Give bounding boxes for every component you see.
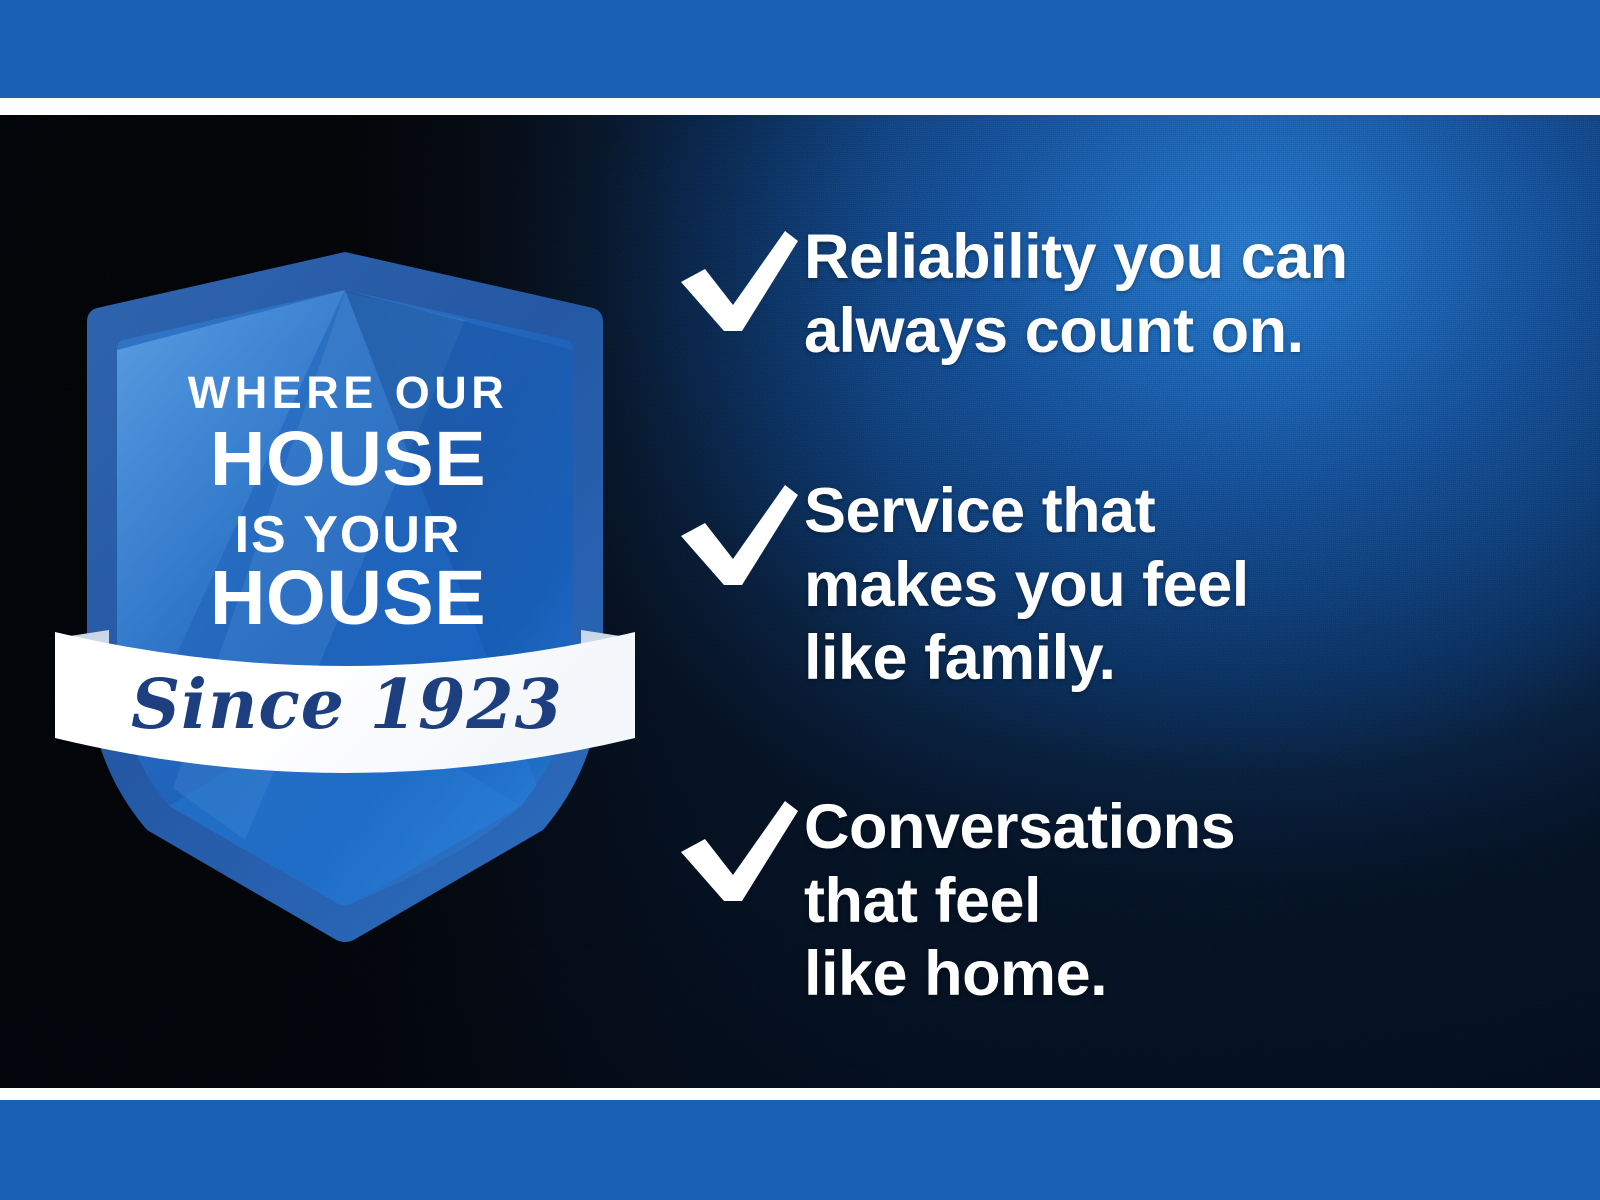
benefit-item-1: Reliability you can always count on.	[672, 213, 1348, 368]
bottom-white-divider	[0, 1088, 1600, 1100]
top-white-divider	[0, 98, 1600, 115]
checkmark-icon	[672, 789, 804, 909]
bottom-brand-bar	[0, 1100, 1600, 1200]
benefit-item-2: Service that makes you feel like family.	[672, 467, 1249, 696]
top-brand-bar	[0, 0, 1600, 98]
emblem-line-1: WHERE OUR	[188, 367, 509, 418]
promo-graphic: WHERE OUR HOUSE IS YOUR HOUSE Since 1923	[0, 0, 1600, 1200]
checkmark-icon	[672, 219, 804, 339]
benefit-text-2: Service that makes you feel like family.	[804, 467, 1249, 696]
emblem-line-4: HOUSE	[210, 555, 486, 641]
benefits-list: Reliability you can always count on. Ser…	[672, 115, 1572, 1088]
benefit-item-3: Conversations that feel like home.	[672, 783, 1235, 1012]
benefit-text-1: Reliability you can always count on.	[804, 213, 1348, 368]
benefit-text-3: Conversations that feel like home.	[804, 783, 1235, 1012]
emblem-line-2: HOUSE	[210, 416, 486, 502]
shield-emblem: WHERE OUR HOUSE IS YOUR HOUSE Since 1923	[45, 140, 645, 950]
ribbon-since-text: Since 1923	[131, 665, 563, 745]
checkmark-icon	[672, 473, 804, 593]
